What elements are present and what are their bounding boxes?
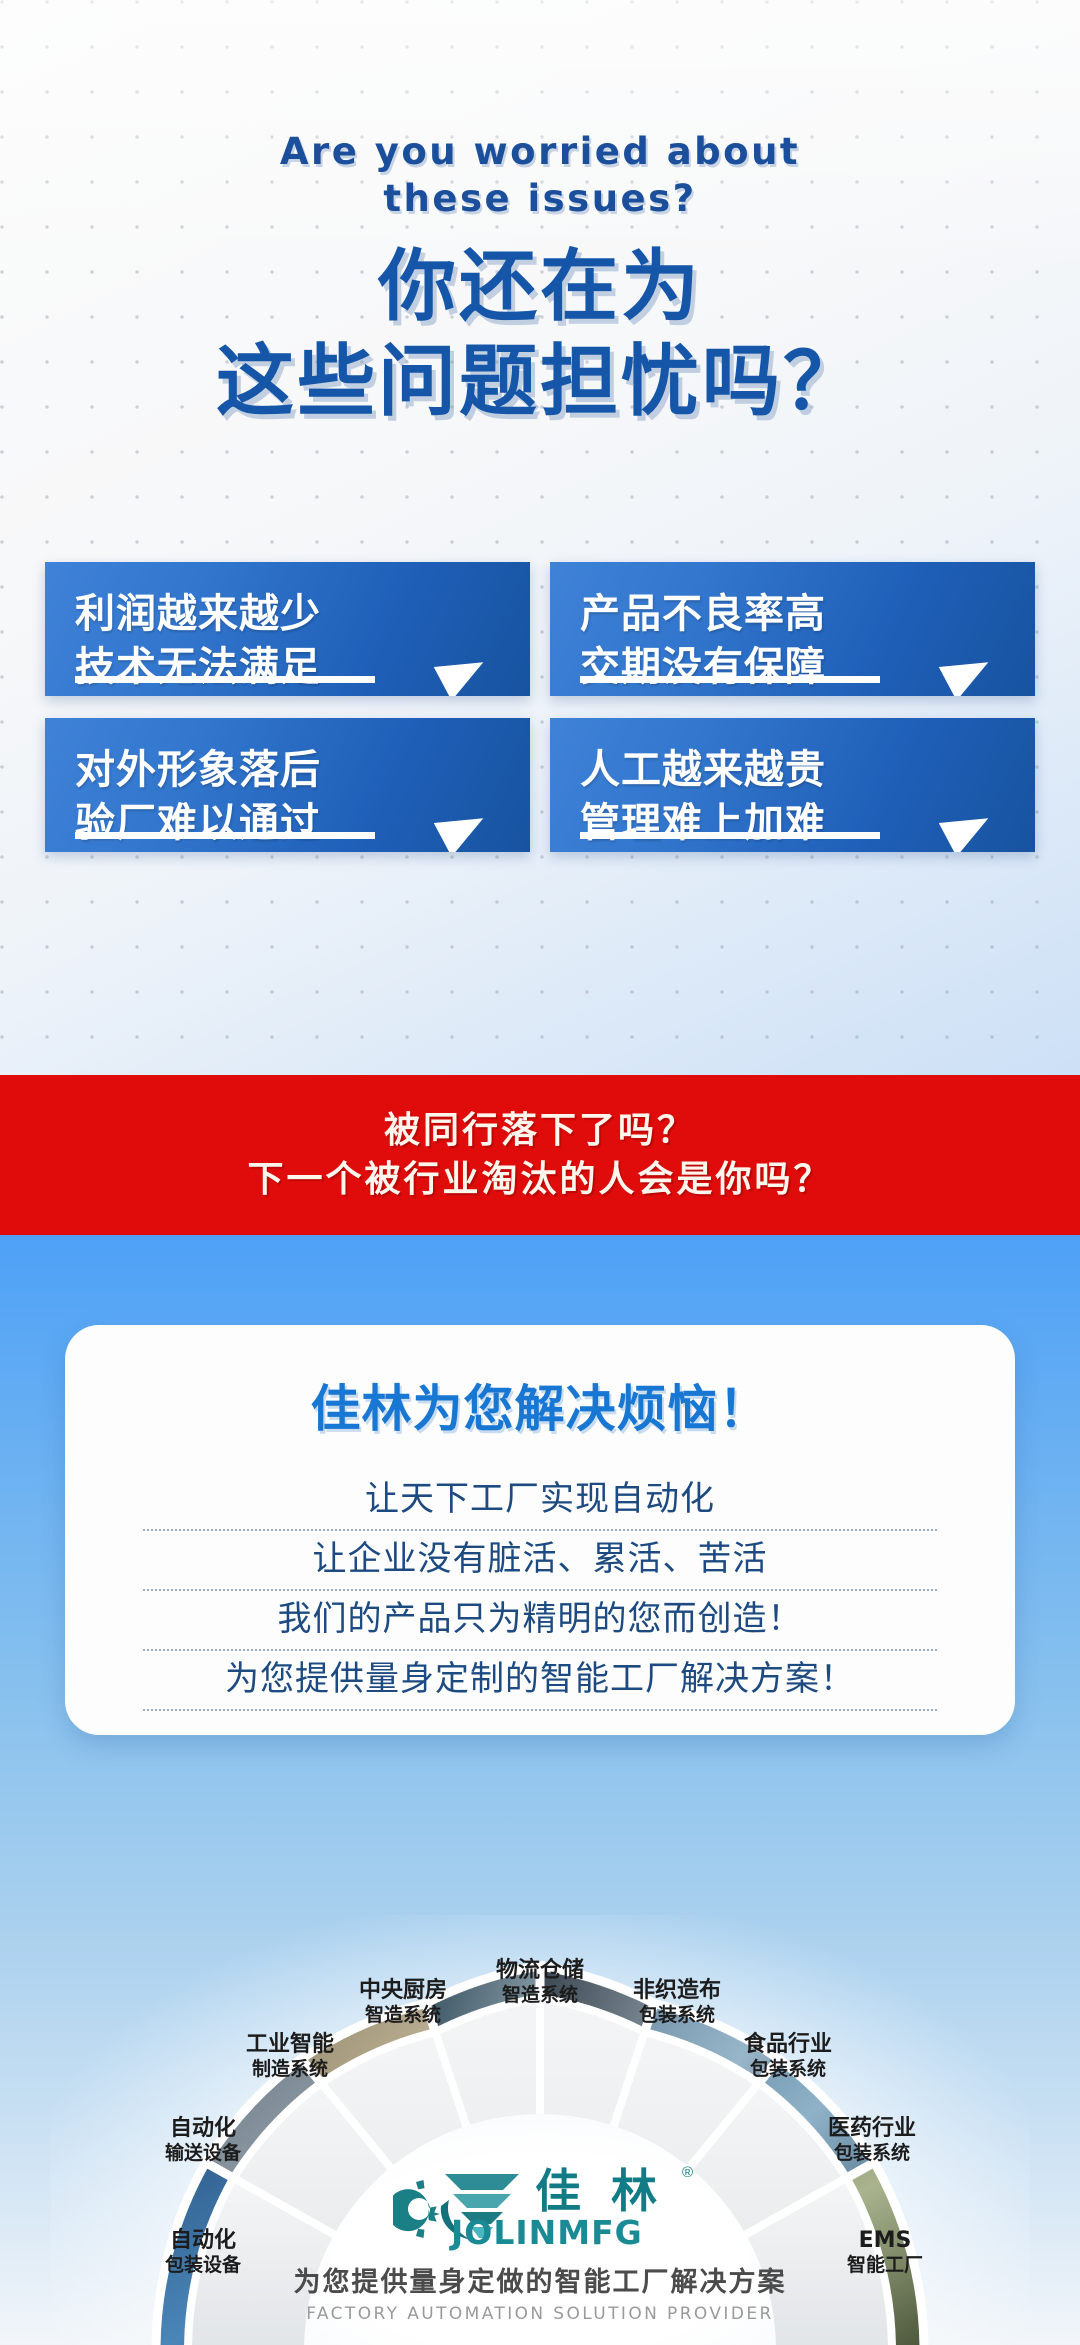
wheel-segment-label: EMS 智能工厂: [810, 2228, 960, 2277]
wheel-segment-title: 自动化: [128, 2116, 278, 2142]
registered-trademark-icon: ®: [682, 2164, 693, 2181]
wheel-segment-subtitle: 包装系统: [602, 2004, 752, 2027]
problem-box-line1: 对外形象落后: [75, 744, 500, 797]
wheel-segment-subtitle: 包装设备: [128, 2254, 278, 2277]
logo-tagline-english: FACTORY AUTOMATION SOLUTION PROVIDER: [260, 2304, 820, 2324]
solution-line: 为您提供量身定制的智能工厂解决方案！: [143, 1651, 937, 1711]
wheel-segment-label: 物流仓储 智造系统: [465, 1958, 615, 2007]
wheel-segment-label: 工业智能 制造系统: [210, 2032, 370, 2081]
problem-box[interactable]: 人工越来越贵 管理难上加难: [550, 718, 1035, 852]
underline-rule: [75, 832, 375, 839]
logo-wordmark: 佳林 ® JOLINMFG: [535, 2168, 687, 2249]
wheel-segment-subtitle: 智造系统: [328, 2004, 478, 2027]
logo-tagline-chinese: 为您提供量身定做的智能工厂解决方案: [260, 2260, 820, 2299]
wheel-segment-title: 医药行业: [792, 2116, 952, 2142]
logo-row: 佳林 ® JOLINMFG: [260, 2168, 820, 2249]
hero-english-title: Are you worried about these issues?: [0, 128, 1080, 223]
wheel-segment-title: 非织造布: [602, 1978, 752, 2004]
wheel-segment-title: 自动化: [128, 2228, 278, 2254]
wheel-segment-subtitle: 制造系统: [210, 2058, 370, 2081]
solution-line: 我们的产品只为精明的您而创造！: [143, 1591, 937, 1651]
problem-box[interactable]: 对外形象落后 验厂难以通过: [45, 718, 530, 852]
problem-box[interactable]: 产品不良率高 交期没有保障: [550, 562, 1035, 696]
wheel-segment-title: EMS: [810, 2228, 960, 2254]
wheel-segment-subtitle: 包装系统: [792, 2142, 952, 2165]
wheel-segment-subtitle: 输送设备: [128, 2142, 278, 2165]
solution-line: 让天下工厂实现自动化: [143, 1471, 937, 1531]
solution-card-lines: 让天下工厂实现自动化 让企业没有脏活、累活、苦活 我们的产品只为精明的您而创造！…: [65, 1471, 1015, 1711]
wheel-segment-subtitle: 智造系统: [465, 1984, 615, 2007]
company-logo-block: 佳林 ® JOLINMFG 为您提供量身定做的智能工厂解决方案 FACTORY …: [260, 2168, 820, 2324]
solution-card: 佳林为您解决烦恼！ 让天下工厂实现自动化 让企业没有脏活、累活、苦活 我们的产品…: [65, 1325, 1015, 1735]
wheel-segment-label: 食品行业 包装系统: [708, 2032, 868, 2081]
underline-rule: [580, 832, 880, 839]
solution-line: 让企业没有脏活、累活、苦活: [143, 1531, 937, 1591]
underline-rule: [75, 676, 375, 683]
poster-page: Are you worried about these issues? 你还在为…: [0, 0, 1080, 2345]
wheel-segment-title: 中央厨房: [328, 1978, 478, 2004]
solution-card-title: 佳林为您解决烦恼！: [65, 1369, 1015, 1441]
hero-english-line1: Are you worried about: [0, 128, 1080, 175]
wheel-segment-label: 自动化 输送设备: [128, 2116, 278, 2165]
hero-chinese-line1: 你还在为: [378, 242, 702, 332]
logo-chinese-name: 佳林: [535, 2168, 687, 2214]
hero-chinese-title: 你还在为 这些问题担忧吗？: [0, 240, 1080, 430]
wheel-segment-label: 非织造布 包装系统: [602, 1978, 752, 2027]
problem-box-line1: 人工越来越贵: [580, 744, 1005, 797]
red-banner-line2: 下一个被行业淘汰的人会是你吗？: [247, 1155, 832, 1204]
wheel-segment-label: 中央厨房 智造系统: [328, 1978, 478, 2027]
problem-box-grid: 利润越来越少 技术无法满足 产品不良率高 交期没有保障 对外形象落后 验厂难以通…: [45, 562, 1035, 852]
logo-english-name: JOLINMFG: [451, 2216, 687, 2249]
problem-box-line1: 利润越来越少: [75, 588, 500, 641]
hero-english-line2: these issues?: [0, 175, 1080, 222]
problem-box-line1: 产品不良率高: [580, 588, 1005, 641]
wheel-segment-label: 医药行业 包装系统: [792, 2116, 952, 2165]
wheel-segment-title: 物流仓储: [465, 1958, 615, 1984]
wheel-segment-subtitle: 包装系统: [708, 2058, 868, 2081]
underline-rule: [580, 676, 880, 683]
wheel-segment-label: 自动化 包装设备: [128, 2228, 278, 2277]
hero-chinese-line2: 这些问题担忧吗？: [0, 335, 1080, 430]
wheel-segment-title: 食品行业: [708, 2032, 868, 2058]
wheel-segment-title: 工业智能: [210, 2032, 370, 2058]
red-banner: 被同行落下了吗？ 下一个被行业淘汰的人会是你吗？: [0, 1075, 1080, 1235]
problem-box[interactable]: 利润越来越少 技术无法满足: [45, 562, 530, 696]
red-banner-line1: 被同行落下了吗？: [384, 1106, 696, 1155]
wheel-segment-subtitle: 智能工厂: [810, 2254, 960, 2277]
